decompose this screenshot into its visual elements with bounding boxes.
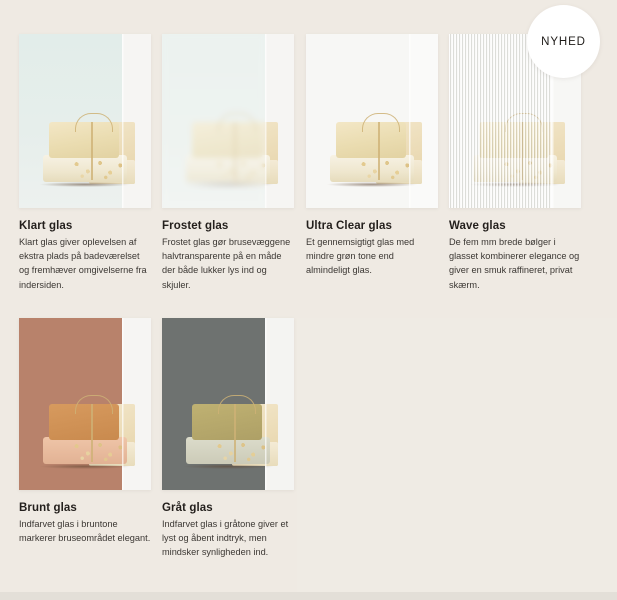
- glass-card-frostet-glas[interactable]: Frostet glas Frostet glas gør brusevægge…: [162, 34, 294, 292]
- nyhed-badge-label: NYHED: [541, 36, 586, 48]
- glass-card-title: Frostet glas: [162, 220, 295, 232]
- soap-stack-illustration: [471, 110, 563, 184]
- nyhed-badge: NYHED: [527, 5, 600, 78]
- glass-card-title: Klart glas: [19, 220, 152, 232]
- glass-card-title: Wave glas: [449, 220, 582, 232]
- glass-edge-seam: [122, 318, 124, 490]
- glass-edge-seam: [265, 318, 267, 490]
- glass-card-photo: [19, 34, 151, 208]
- glass-card-description: Klart glas giver oplevelsen af ekstra pl…: [19, 235, 152, 292]
- glass-card-caption: Gråt glas Indfarvet glas i gråtone giver…: [162, 502, 295, 560]
- glass-card-caption: Wave glas De fem mm brede bølger i glass…: [449, 220, 582, 292]
- glass-card-title: Gråt glas: [162, 502, 295, 514]
- glass-card-photo: [19, 318, 151, 490]
- glass-card-title: Ultra Clear glas: [306, 220, 439, 232]
- glass-card-caption: Ultra Clear glas Et gennemsigtigt glas m…: [306, 220, 439, 278]
- soap-stack-illustration: [184, 392, 276, 466]
- glass-card-brunt-glas[interactable]: Brunt glas Indfarvet glas i bruntone mar…: [19, 318, 151, 545]
- glass-card-title: Brunt glas: [19, 502, 152, 514]
- glass-card-graat-glas[interactable]: Gråt glas Indfarvet glas i gråtone giver…: [162, 318, 294, 560]
- glass-card-ultra-clear-glas[interactable]: Ultra Clear glas Et gennemsigtigt glas m…: [306, 34, 438, 278]
- glass-card-description: De fem mm brede bølger i glasset kombine…: [449, 235, 582, 292]
- glass-card-photo: [162, 34, 294, 208]
- glass-card-description: Frostet glas gør brusevæggene halvtransp…: [162, 235, 295, 292]
- soap-stack-illustration: [41, 392, 133, 466]
- glass-card-caption: Klart glas Klart glas giver oplevelsen a…: [19, 220, 152, 292]
- soap-stack-illustration: [41, 110, 133, 184]
- glass-card-photo: [162, 318, 294, 490]
- glass-options-gallery: Klart glas Klart glas giver oplevelsen a…: [0, 0, 617, 600]
- background-panel-right: [297, 318, 617, 592]
- glass-card-description: Indfarvet glas i gråtone giver et lyst o…: [162, 517, 295, 560]
- glass-card-description: Et gennemsigtigt glas med mindre grøn to…: [306, 235, 439, 278]
- glass-card-klart-glas[interactable]: Klart glas Klart glas giver oplevelsen a…: [19, 34, 151, 292]
- glass-card-caption: Frostet glas Frostet glas gør brusevægge…: [162, 220, 295, 292]
- glass-card-description: Indfarvet glas i bruntone markerer bruse…: [19, 517, 152, 545]
- glass-card-photo: [306, 34, 438, 208]
- glass-edge-seam: [409, 34, 411, 208]
- soap-stack-illustration: [328, 110, 420, 184]
- soap-stack-illustration: [184, 110, 276, 184]
- glass-card-caption: Brunt glas Indfarvet glas i bruntone mar…: [19, 502, 152, 545]
- glass-edge-seam: [265, 34, 267, 208]
- footer-band: [0, 592, 617, 600]
- glass-edge-seam: [122, 34, 124, 208]
